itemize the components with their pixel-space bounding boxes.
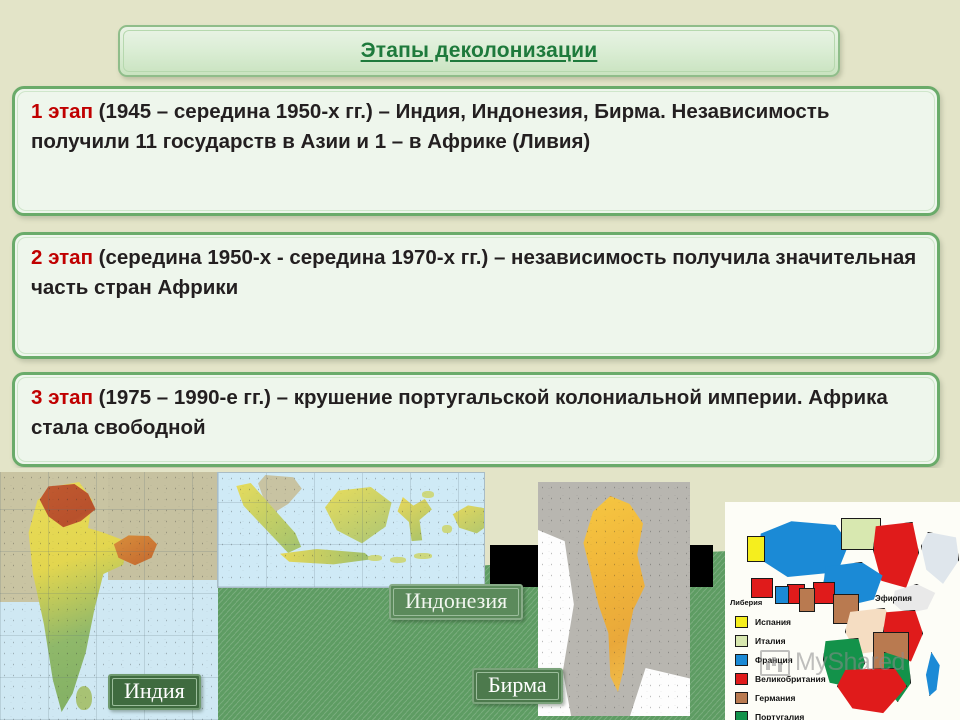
stage-box-3: 3 этап (1975 – 1990-е гг.) – крушение по… (12, 372, 940, 467)
africa-label-ethiopia: Эфиопия (875, 594, 912, 603)
afr-region-france-w (775, 586, 789, 604)
afr-region-britain-s (837, 668, 907, 716)
stage-3-text: 3 этап (1975 – 1990-е гг.) – крушение по… (31, 383, 923, 443)
legend-label-portugal: Португалия (755, 712, 804, 720)
caption-label-india: Индия (124, 678, 185, 703)
black-bar-left (490, 545, 538, 587)
stage-2-text: 2 этап (середина 1950-х - середина 1970-… (31, 243, 923, 303)
afr-region-madagascar (925, 652, 941, 696)
legend-item: Италия (735, 631, 826, 650)
title-box: Этапы деколонизации (118, 25, 840, 77)
caption-label-burma: Бирма (488, 672, 547, 697)
afr-region-arabia (921, 532, 959, 586)
map-image-africa-colonial: Либерия Эфиопия Испания Италия Франция В… (725, 502, 960, 720)
legend-swatch-germany (735, 692, 748, 704)
stage-2-body: (середина 1950-х - середина 1970-х гг.) … (31, 246, 916, 299)
legend-swatch-france (735, 654, 748, 666)
stage-3-body: (1975 – 1990-е гг.) – крушение португаль… (31, 386, 888, 439)
legend-label-germany: Германия (755, 693, 795, 703)
stage-box-2: 2 этап (середина 1950-х - середина 1970-… (12, 232, 940, 359)
afr-region-britain-w3 (813, 582, 835, 604)
legend-label-britain: Великобритания (755, 674, 826, 684)
caption-plate-indonesia: Индонезия (389, 584, 523, 620)
caption-plate-india: Индия (108, 674, 201, 710)
legend-label-france: Франция (755, 655, 793, 665)
map-image-indonesia (217, 472, 485, 588)
afr-region-spain-w (747, 536, 765, 562)
indonesia-map-graticule (218, 473, 484, 587)
legend-swatch-spain (735, 616, 748, 628)
stage-box-1: 1 этап (1945 – середина 1950-х гг.) – Ин… (12, 86, 940, 216)
stage-1-body: (1945 – середина 1950-х гг.) – Индия, Ин… (31, 100, 829, 153)
caption-label-indonesia: Индонезия (405, 588, 507, 613)
legend-label-italy: Италия (755, 636, 786, 646)
page-title: Этапы деколонизации (361, 39, 598, 63)
slide-canvas: Этапы деколонизации 1 этап (1945 – серед… (0, 0, 960, 720)
africa-map-legend: Испания Италия Франция Великобритания Ге… (735, 612, 826, 720)
legend-item: Испания (735, 612, 826, 631)
legend-label-spain: Испания (755, 617, 791, 627)
afr-region-britain-w1 (751, 578, 773, 598)
stage-1-text: 1 этап (1945 – середина 1950-х гг.) – Ин… (31, 97, 923, 157)
africa-label-liberia: Либерия (730, 598, 762, 607)
legend-item: Великобритания (735, 669, 826, 688)
legend-item: Франция (735, 650, 826, 669)
caption-plate-burma: Бирма (472, 668, 563, 704)
stage-1-label: 1 этап (31, 100, 93, 123)
legend-swatch-portugal (735, 711, 748, 720)
stage-2-label: 2 этап (31, 246, 93, 269)
legend-item: Германия (735, 688, 826, 707)
legend-swatch-britain (735, 673, 748, 685)
afr-region-germany-w (799, 588, 815, 612)
legend-swatch-italy (735, 635, 748, 647)
legend-item: Португалия (735, 707, 826, 720)
stage-3-label: 3 этап (31, 386, 93, 409)
